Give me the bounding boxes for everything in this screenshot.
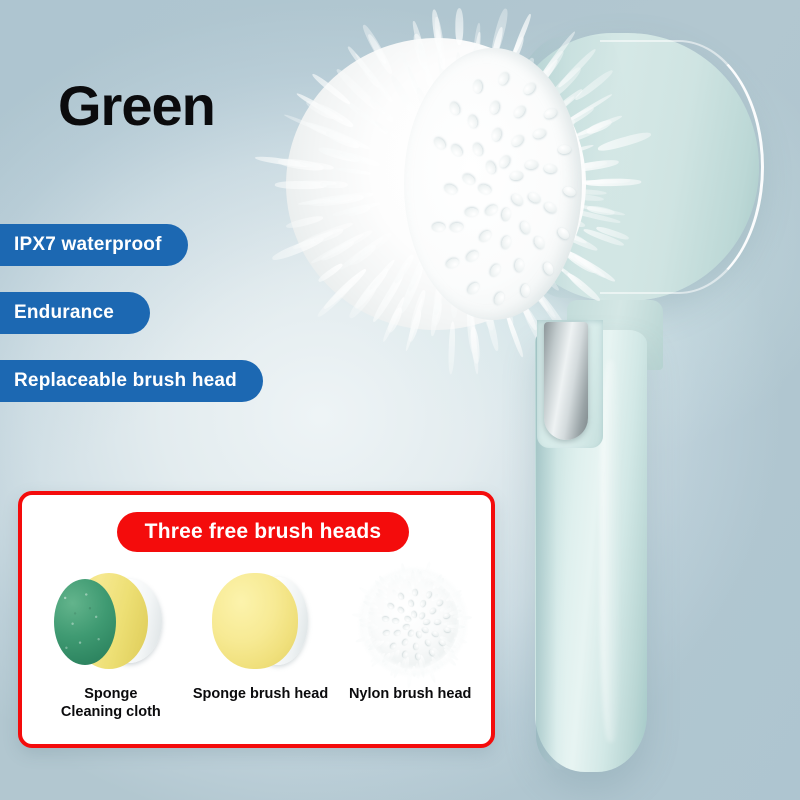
green-scour-pad-shape	[54, 579, 116, 665]
bristle-strand	[320, 180, 348, 188]
sponge-brush-head-icon	[200, 567, 322, 679]
accessory-item-list: Sponge Cleaning cloth Sponge brush head	[36, 567, 485, 743]
free-brush-heads-badge: Three free brush heads	[117, 512, 409, 552]
free-brush-heads-badge-label: Three free brush heads	[145, 520, 382, 544]
nylon-brush-head-icon	[349, 567, 471, 679]
product-marketing-image: Green IPX7 waterproof Endurance Replacea…	[0, 0, 800, 800]
bristle-strand	[455, 9, 463, 46]
accessory-caption-line1: Nylon brush head	[335, 685, 485, 703]
motor-body-highlight-rim	[600, 40, 764, 294]
accessory-caption: Sponge Cleaning cloth	[36, 685, 186, 721]
power-button[interactable]	[544, 322, 588, 440]
accessories-card: Three free brush heads Sponge Cleaning c…	[18, 491, 495, 748]
bristle-strand	[447, 322, 455, 375]
accessory-caption: Nylon brush head	[335, 685, 485, 703]
sponge-cleaning-cloth-icon	[50, 567, 172, 679]
bristle-strand	[286, 214, 324, 230]
accessory-item-sponge-cleaning-cloth: Sponge Cleaning cloth	[36, 567, 186, 743]
bristle-strand	[336, 166, 372, 175]
nylon-bristle-strand	[444, 622, 456, 626]
brush-head-backing-plate	[404, 48, 582, 320]
accessory-caption-line2: Cleaning cloth	[36, 703, 186, 721]
bristle-tuft	[473, 80, 482, 93]
bristle-strand	[416, 42, 436, 89]
accessory-caption-line1: Sponge	[36, 685, 186, 703]
nylon-bristle-tuft	[414, 643, 419, 650]
accessory-item-nylon-brush-head: Nylon brush head	[335, 567, 485, 743]
bristle-strand	[317, 263, 344, 285]
handle-gloss-highlight	[600, 360, 622, 742]
nylon-bristle-tuft	[412, 589, 417, 596]
yellow-sponge-shape	[212, 573, 298, 669]
accessory-caption: Sponge brush head	[186, 685, 336, 703]
accessory-item-sponge-brush-head: Sponge brush head	[186, 567, 336, 743]
accessory-caption-line1: Sponge brush head	[186, 685, 336, 703]
nylon-bristle-strand	[410, 570, 414, 589]
bristle-strand	[505, 314, 525, 358]
bristle-tuft	[432, 223, 445, 232]
